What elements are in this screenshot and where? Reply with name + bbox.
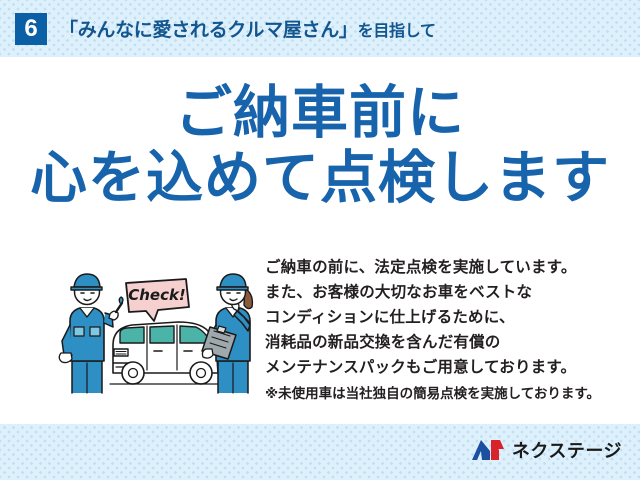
page-title: ご納車前に 心を込めて点検します [0, 83, 640, 209]
content-card: ご納車前に 心を込めて点検します ご納車の前に、法定点検を実施しています。 また… [0, 57, 640, 424]
header-title-main: 「みんなに愛されるクルマ屋さん」 [59, 20, 358, 41]
promo-banner: 6 「みんなに愛されるクルマ屋さん」を目指して ご納車前に 心を込めて点検します… [0, 0, 640, 480]
headline-line-1: ご納車前に [0, 83, 640, 143]
body-line-5: メンテナンスパックもご用意しております。 [265, 355, 625, 380]
svg-text:Check!: Check! [128, 286, 186, 304]
banner-header: 6 「みんなに愛されるクルマ屋さん」を目指して [0, 0, 640, 57]
brand-name: ネクステージ [512, 437, 622, 463]
body-line-3: コンディションに仕上げるために、 [265, 305, 625, 330]
header-title: 「みんなに愛されるクルマ屋さん」を目指して [59, 15, 436, 42]
step-number-badge: 6 [15, 13, 47, 45]
mechanics-illustration: Check! [58, 265, 263, 395]
body-line-4: 消耗品の新品交換を含んだ有償の [265, 330, 625, 355]
body-line-2: また、お客様の大切なお車をベストな [265, 280, 625, 305]
check-speech-bubble: Check! [126, 279, 189, 321]
nexstage-n-icon [471, 439, 505, 461]
header-title-suffix: を目指して [358, 23, 436, 40]
headline-line-2: 心を込めて点検します [0, 148, 640, 208]
left-mechanic [59, 274, 123, 393]
body-line-1: ご納車の前に、法定点検を実施しています。 [265, 255, 625, 280]
body-copy: ご納車の前に、法定点検を実施しています。 また、お客様の大切なお車をベストな コ… [265, 255, 625, 404]
brand-logo: ネクステージ [471, 437, 622, 463]
body-note: ※未使用車は当社独自の簡易点検を実施しております。 [265, 383, 625, 405]
